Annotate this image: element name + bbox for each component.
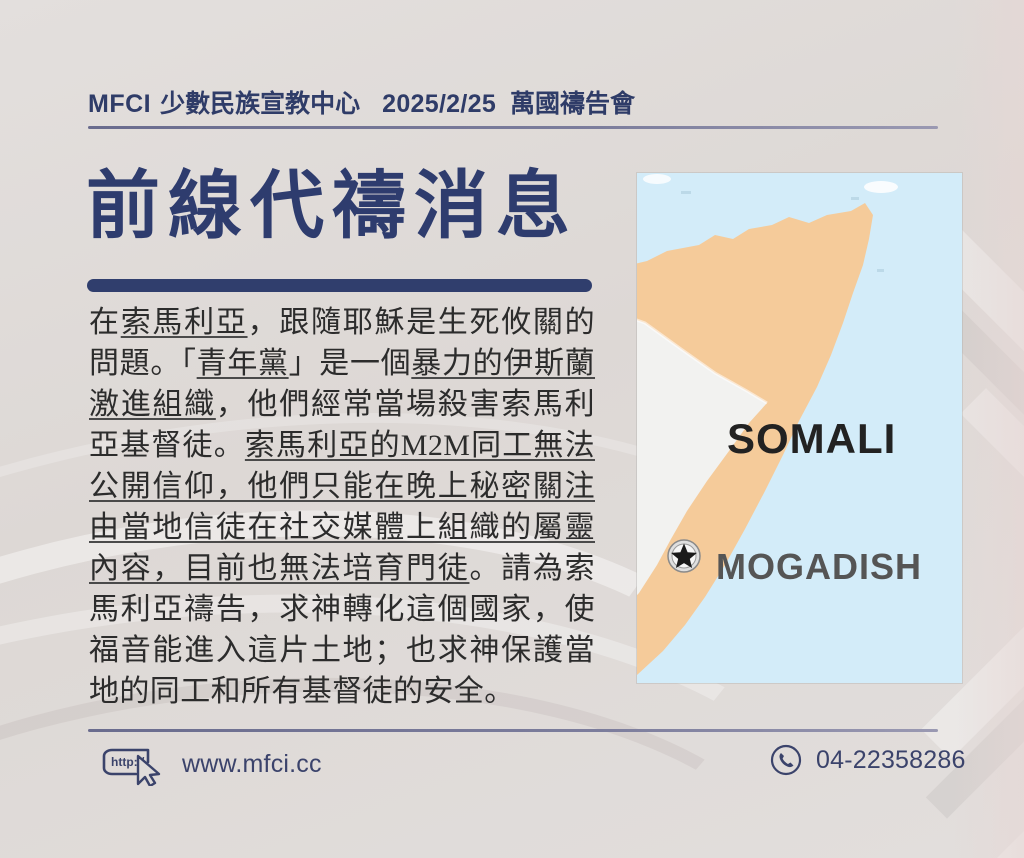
body-segment: 在 [89,306,121,339]
background-edge-tint [954,0,1024,858]
capital-star-marker-icon [667,539,701,573]
footer-phone-text[interactable]: 04-22358286 [816,746,966,775]
body-segment-underlined: 青年黨 [197,347,289,380]
footer-divider [88,729,938,732]
title-underline-bar [87,279,592,292]
header: MFCI 少數民族宣教中心 2025/2/25 萬國禱告會 [88,84,635,120]
header-organization: 少數民族宣教中心 [160,84,360,120]
poster-canvas: MFCI 少數民族宣教中心 2025/2/25 萬國禱告會 前線代禱消息 在索馬… [0,0,1024,858]
body-paragraph: 在索馬利亞，跟隨耶穌是生死攸關的問題。「青年黨」是一個暴力的伊斯蘭激進組織，他們… [89,302,595,712]
footer-url-text[interactable]: www.mfci.cc [182,750,322,779]
map-capital-label: MOGADISH [716,546,922,588]
map-speck-2 [851,197,859,200]
page-title: 前線代禱消息 [86,170,578,244]
phone-icon [770,744,802,776]
header-divider [88,126,938,129]
body-segment: 」是一個 [289,347,412,380]
footer-phone-block[interactable]: 04-22358286 [770,744,966,776]
header-brand: MFCI [88,90,151,119]
map-island-1 [864,181,898,193]
map-country-label: SOMALI [727,415,896,463]
map-speck-1 [681,191,691,194]
footer-website[interactable]: http:// www.mfci.cc [96,742,322,786]
map-island-2 [643,174,671,184]
url-address-bar-cursor-icon: http:// [96,742,166,786]
header-meeting-name: 萬國禱告會 [510,84,635,120]
body-segment-underlined: 索馬利亞 [121,306,248,339]
header-date: 2025/2/25 [382,90,496,119]
map-speck-3 [877,269,884,272]
